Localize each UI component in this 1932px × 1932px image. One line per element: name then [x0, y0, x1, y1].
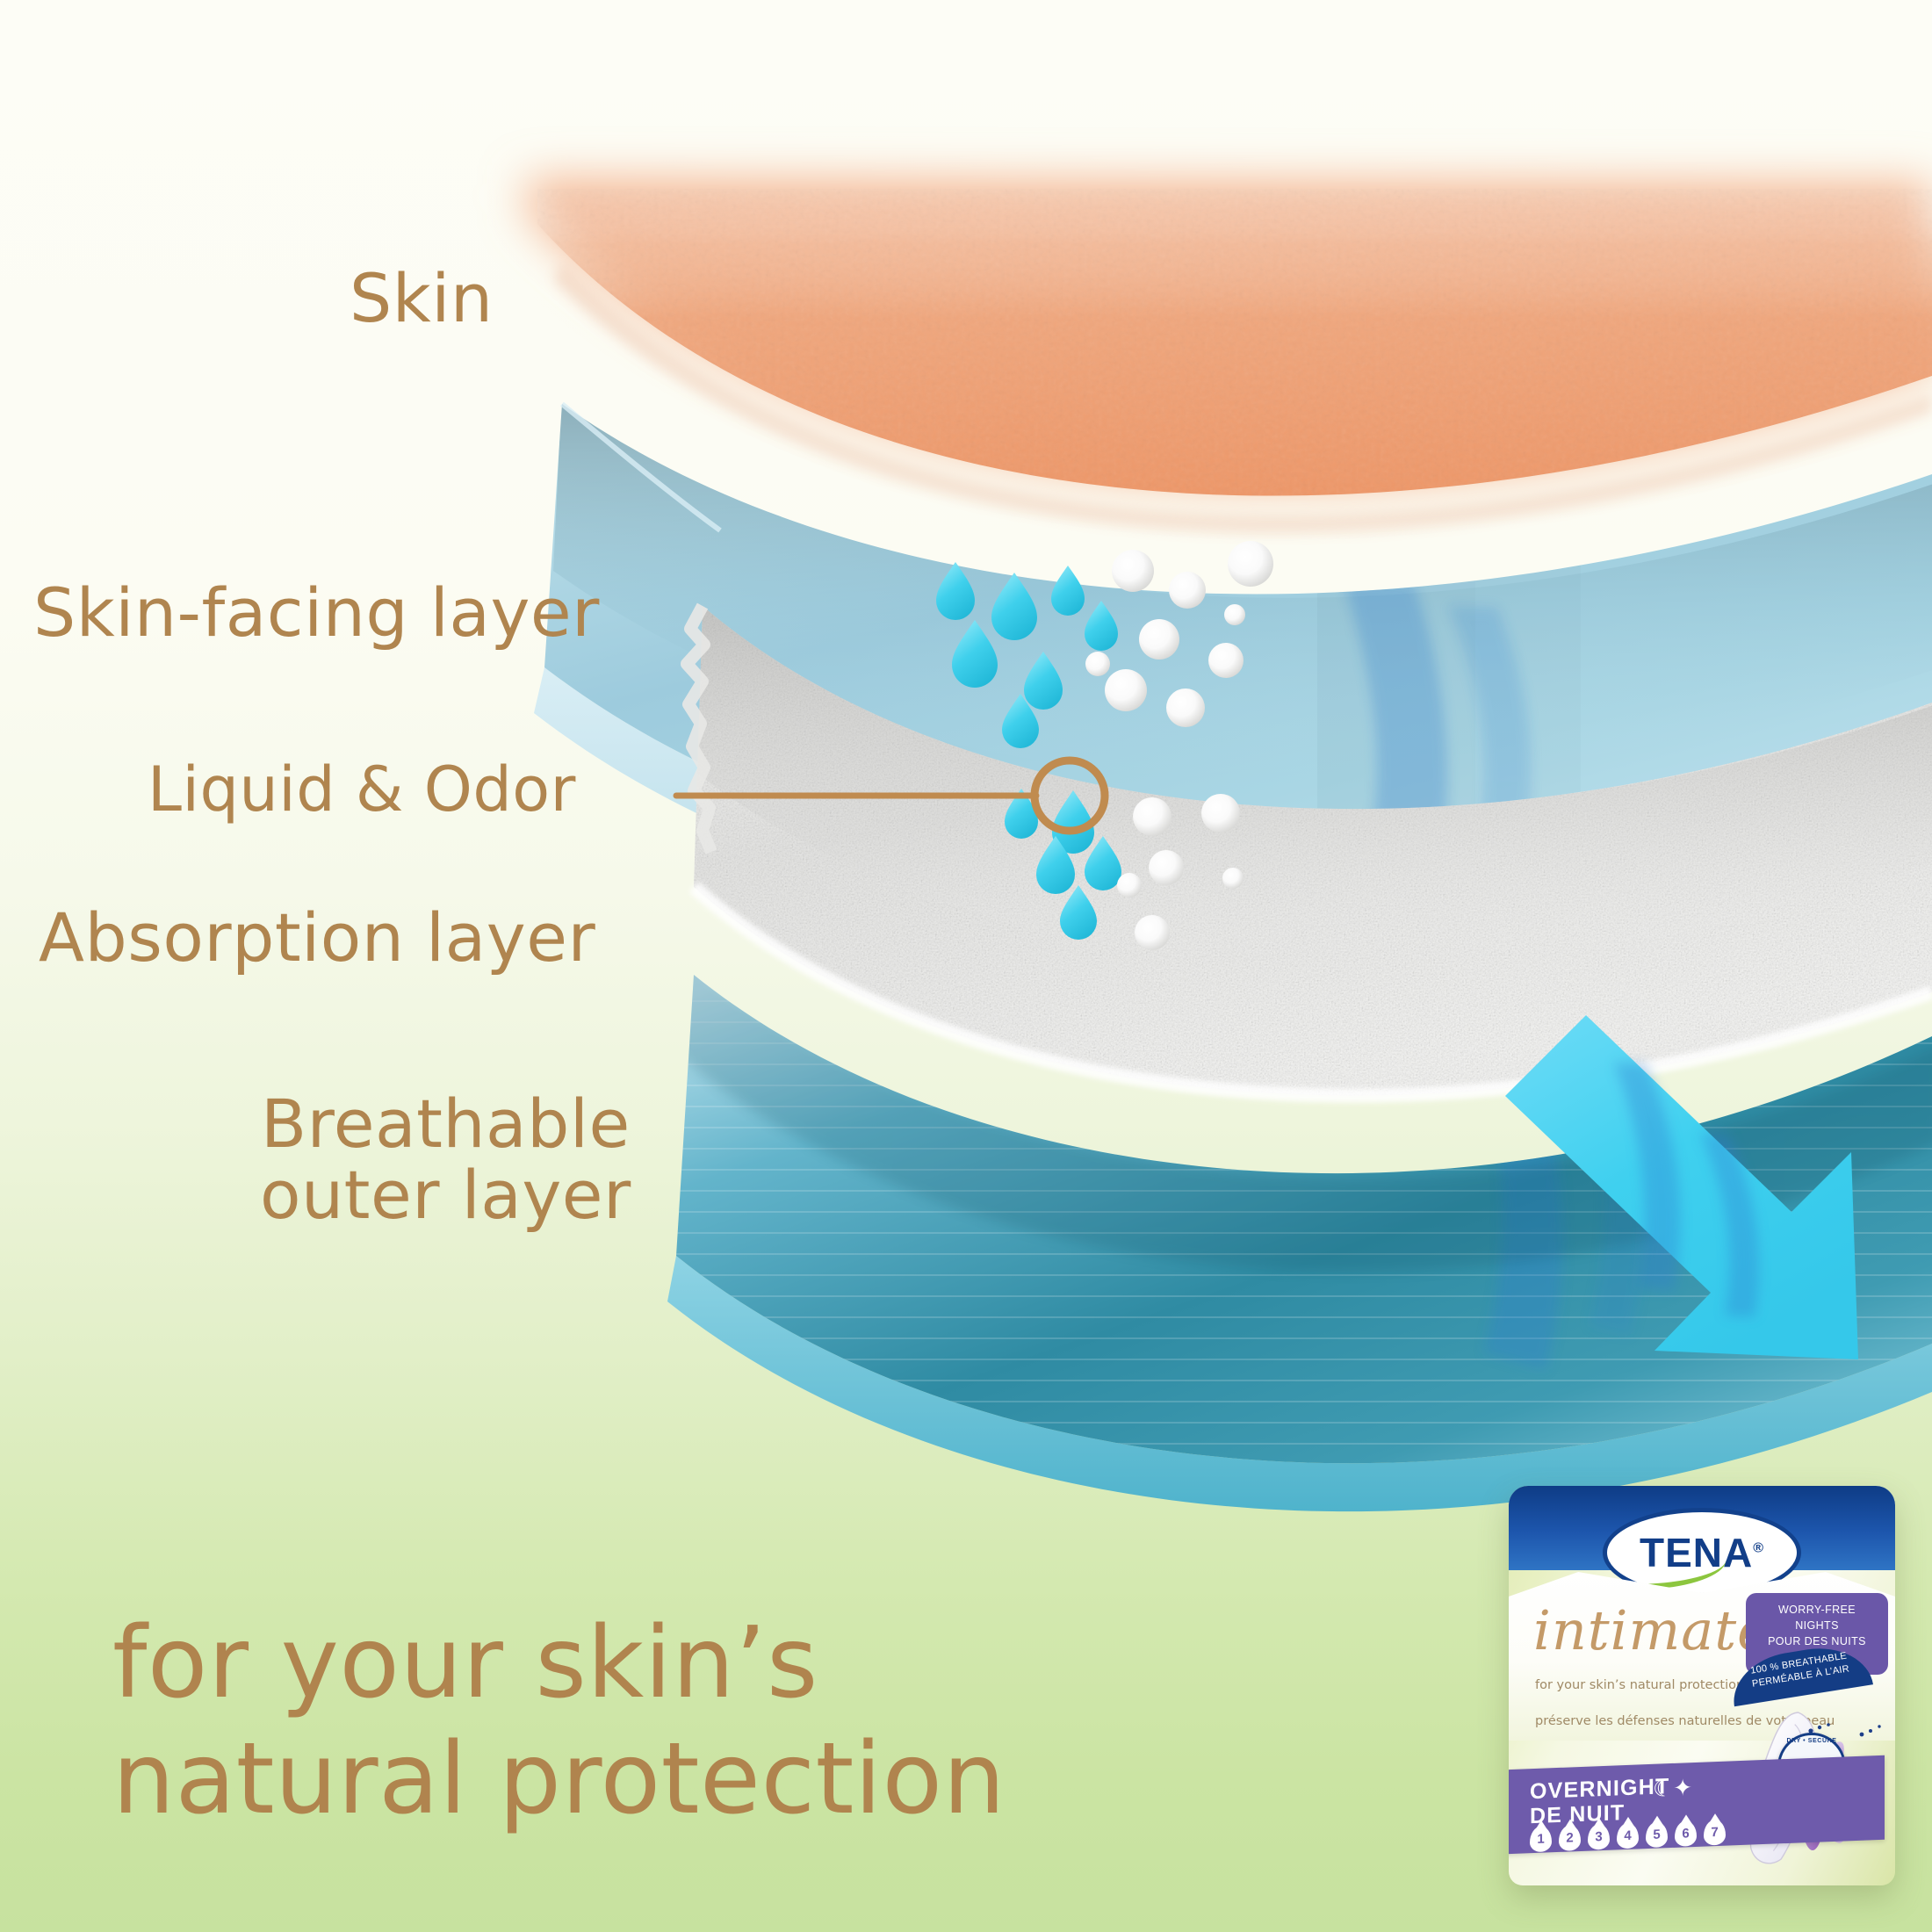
- brand-name: TENA®: [1640, 1529, 1764, 1576]
- absorbency-drop: 5: [1646, 1821, 1668, 1848]
- label-skin-facing: Skin-facing layer: [33, 578, 600, 649]
- brand-name-text: TENA: [1640, 1530, 1753, 1575]
- moon-stars-icon: ☾✦: [1653, 1775, 1692, 1803]
- label-absorption: Absorption layer: [39, 903, 595, 974]
- absorbency-drop: 2: [1559, 1825, 1581, 1851]
- absorbency-drop: 7: [1704, 1820, 1726, 1846]
- claim-en-text: for your skin’s natural protection: [1535, 1678, 1744, 1692]
- tagline: for your skin’s natural protection: [112, 1605, 1006, 1837]
- absorbency-drop: 4: [1617, 1822, 1639, 1849]
- skin-layer: [527, 180, 1932, 534]
- absorbency-drop: 1: [1530, 1826, 1552, 1852]
- label-breathable-outer: Breathable outer layer: [260, 1089, 631, 1230]
- package-body: TENA® intimates® for your skin’s natural…: [1509, 1486, 1895, 1885]
- protection-badge-top-text: DRY • SECURE: [1779, 1738, 1844, 1744]
- absorbency-drop: 3: [1588, 1824, 1610, 1850]
- product-package[interactable]: TENA® intimates® for your skin’s natural…: [1509, 1486, 1895, 1885]
- liquid-drop: [1051, 566, 1085, 616]
- brand-registered-mark: ®: [1753, 1541, 1764, 1556]
- absorbency-drop: 6: [1675, 1820, 1697, 1847]
- poster-canvas: Skin Skin-facing layer Liquid & Odor Abs…: [0, 0, 1932, 1932]
- label-liquid-and-odor: Liquid & Odor: [148, 757, 576, 822]
- absorbency-band: OVERNIGHT DE NUIT ☾✦ 1 2 3 4 5 6 7: [1509, 1755, 1885, 1855]
- tena-logo-lens: TENA®: [1607, 1512, 1797, 1593]
- label-skin: Skin: [350, 263, 494, 335]
